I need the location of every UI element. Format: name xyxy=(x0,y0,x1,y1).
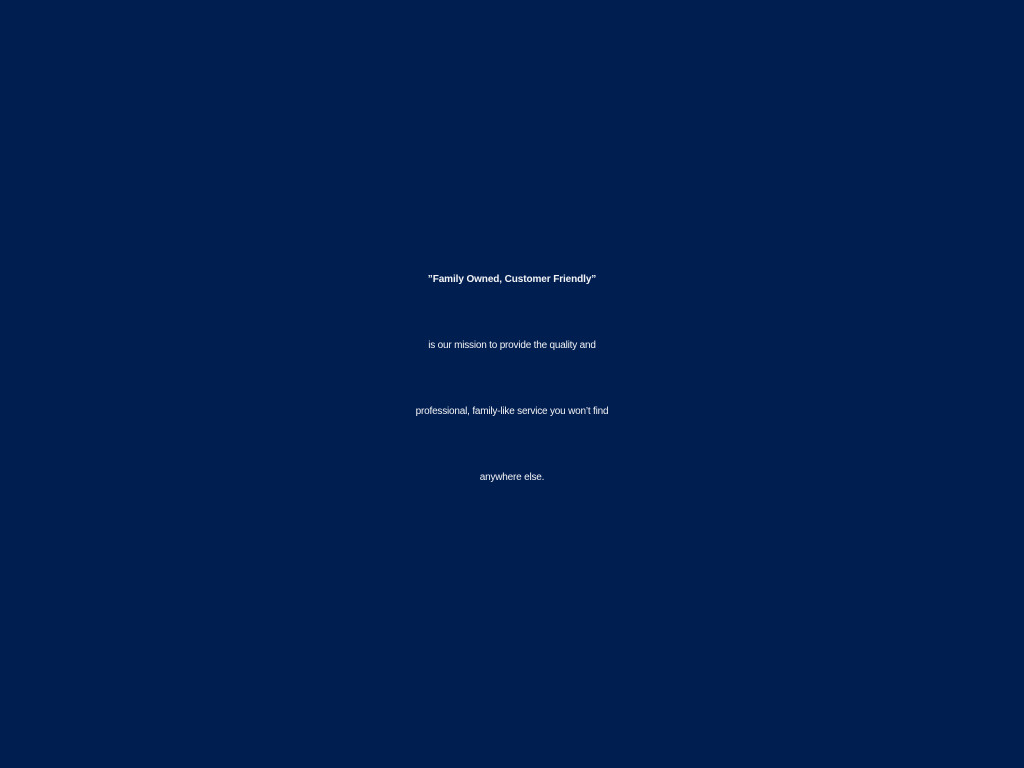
quote-line-4: anywhere else. xyxy=(8,445,1016,511)
slide-canvas: ”Family Owned, Customer Friendly” is our… xyxy=(0,0,1024,768)
quote-line-2: is our mission to provide the quality an… xyxy=(8,313,1016,379)
quote-line-3: professional, family-like service you wo… xyxy=(8,379,1016,445)
mission-statement-quote: ”Family Owned, Customer Friendly” is our… xyxy=(0,247,1024,511)
quote-line-1-headline: ”Family Owned, Customer Friendly” xyxy=(8,247,1016,313)
